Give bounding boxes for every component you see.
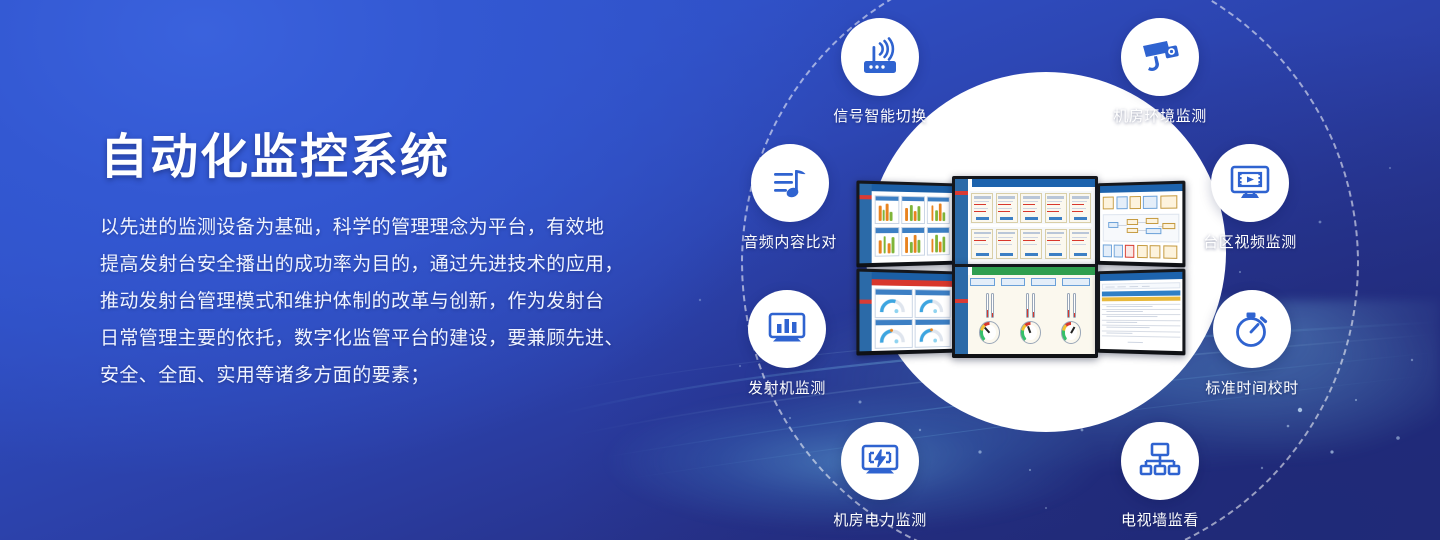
feature-label: 音频内容比对 xyxy=(705,231,875,252)
screen-sidebar xyxy=(955,179,968,265)
description-line: 安全、全面、实用等诸多方面的要素； xyxy=(100,357,690,394)
feature-signal[interactable]: 信号智能切换 xyxy=(795,18,965,126)
hero-copy: 自动化监控系统 以先进的监测设备为基础，科学的管理理念为平台，有效地 提高发射台… xyxy=(100,130,700,394)
description-line: 以先进的监测设备为基础，科学的管理理念为平台，有效地 xyxy=(100,209,690,246)
feature-label: 机房电力监测 xyxy=(795,509,965,530)
feature-label: 电视墙监看 xyxy=(1075,509,1245,530)
description-line: 推动发射台管理模式和维护体制的改革与创新，作为发射台 xyxy=(100,283,690,320)
music-note-icon xyxy=(769,162,811,204)
feature-environment[interactable]: 机房环境监测 xyxy=(1075,18,1245,126)
feature-icon-bubble xyxy=(748,290,826,368)
feature-label: 标准时间校时 xyxy=(1167,377,1337,398)
stopwatch-icon xyxy=(1230,307,1274,351)
feature-tv-wall[interactable]: 电视墙监看 xyxy=(1075,422,1245,530)
org-hierarchy-icon xyxy=(1138,439,1182,483)
feature-audio[interactable]: 音频内容比对 xyxy=(705,144,875,252)
feature-icon-bubble xyxy=(1213,290,1291,368)
screen-titlebar xyxy=(972,267,1095,275)
monitor-screen-bottom-center xyxy=(952,264,1098,358)
description-line: 提高发射台安全播出的成功率为目的，通过先进技术的应用， xyxy=(100,246,690,283)
feature-label: 信号智能切换 xyxy=(795,105,965,126)
screen-titlebar xyxy=(1100,272,1182,281)
monitor-video-play-icon xyxy=(1228,161,1272,205)
monitor-bar-chart-icon xyxy=(765,307,809,351)
screen-titlebar xyxy=(972,179,1095,187)
monitor-battery-bolt-icon xyxy=(858,439,902,483)
feature-icon-bubble xyxy=(1121,18,1199,96)
feature-label: 机房环境监测 xyxy=(1075,105,1245,126)
screen-sidebar xyxy=(955,267,968,355)
feature-transmitter[interactable]: 发射机监测 xyxy=(702,290,872,398)
feature-time-sync[interactable]: 标准时间校时 xyxy=(1167,290,1337,398)
hero-description: 以先进的监测设备为基础，科学的管理理念为平台，有效地 提高发射台安全播出的成功率… xyxy=(100,209,690,394)
description-line: 日常管理主要的依托，数字化监管平台的建设，要兼顾先进、 xyxy=(100,320,690,357)
monitor-screen-top-center xyxy=(952,176,1098,268)
screen-titlebar xyxy=(871,184,953,193)
page-title: 自动化监控系统 xyxy=(100,130,700,187)
feature-label: 台区视频监测 xyxy=(1165,231,1335,252)
feature-icon-bubble xyxy=(841,422,919,500)
feature-icon-bubble xyxy=(1121,422,1199,500)
router-wifi-icon xyxy=(858,35,902,79)
feature-icon-bubble xyxy=(1211,144,1289,222)
monitor-wall-illustration xyxy=(856,174,1186,358)
feature-label: 发射机监测 xyxy=(702,377,872,398)
feature-icon-bubble xyxy=(751,144,829,222)
feature-video[interactable]: 台区视频监测 xyxy=(1165,144,1335,252)
feature-power[interactable]: 机房电力监测 xyxy=(795,422,965,530)
feature-icon-bubble xyxy=(841,18,919,96)
hero-banner: 自动化监控系统 以先进的监测设备为基础，科学的管理理念为平台，有效地 提高发射台… xyxy=(0,0,1440,540)
cctv-camera-icon xyxy=(1137,34,1183,80)
